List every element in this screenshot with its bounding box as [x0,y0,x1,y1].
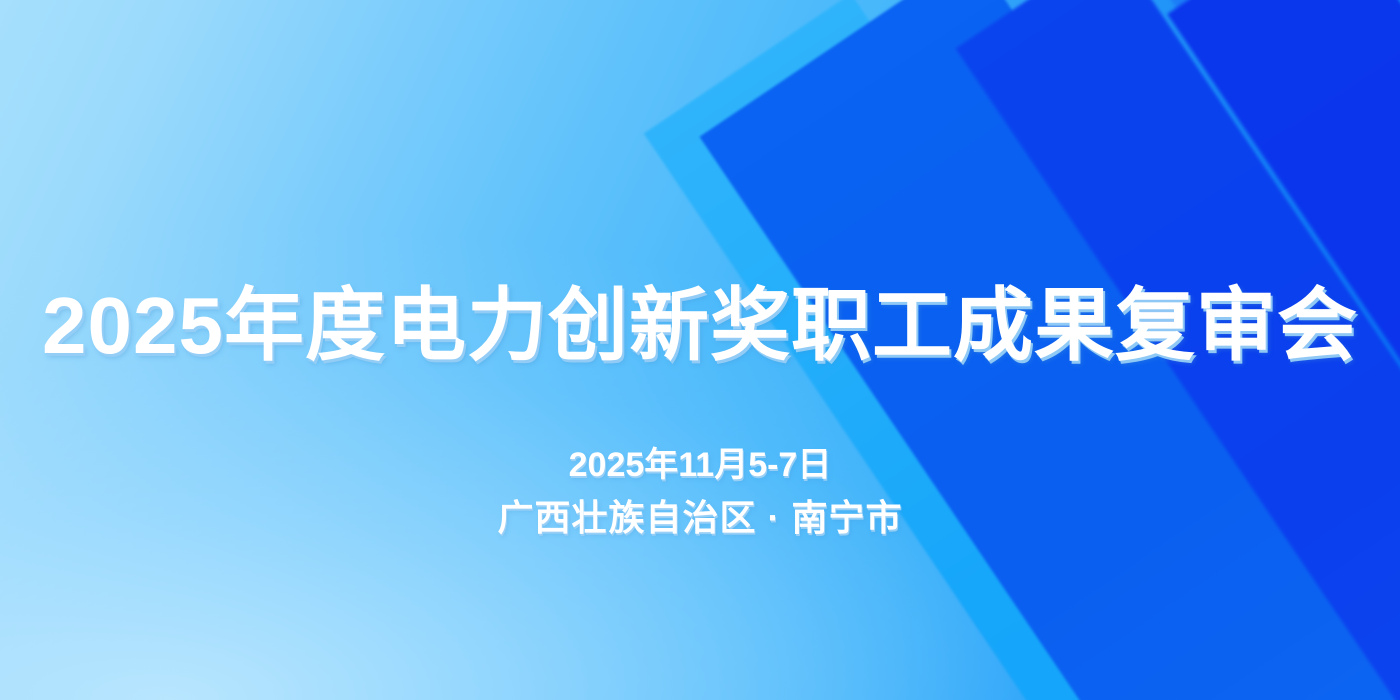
banner-subtitle: 2025年11月5-7日 广西壮族自治区 · 南宁市 [0,448,1400,536]
event-location: 广西壮族自治区 · 南宁市 [0,500,1400,536]
conference-banner: 2025年度电力创新奖职工成果复审会 2025年11月5-7日 广西壮族自治区 … [0,0,1400,700]
banner-title: 2025年度电力创新奖职工成果复审会 [0,286,1400,366]
event-date: 2025年11月5-7日 [0,448,1400,482]
banner-content: 2025年度电力创新奖职工成果复审会 2025年11月5-7日 广西壮族自治区 … [0,0,1400,700]
